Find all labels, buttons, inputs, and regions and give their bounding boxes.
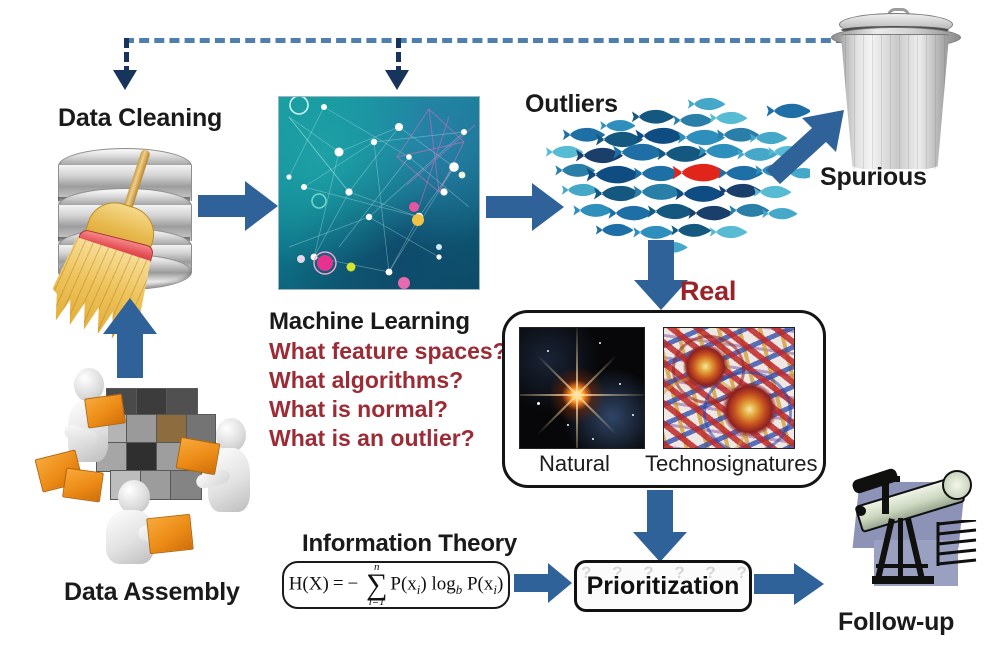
entropy-formula-box: H(X)=− n ∑ i=1 P(xi) logb P(xi): [282, 561, 510, 609]
network-graph-image: [278, 96, 480, 290]
arrow-formula-to-prioritization: [514, 561, 574, 605]
diagram-canvas: Data Cleaning: [0, 0, 993, 647]
orange-box-front-carried: [146, 514, 194, 554]
formula-term-2: P(x: [467, 573, 493, 594]
spurious-label: Spurious: [820, 163, 927, 192]
prioritization-label: Prioritization: [587, 572, 740, 601]
data-cleaning-label: Data Cleaning: [58, 104, 222, 133]
feedback-arrow-head-left: [113, 70, 137, 90]
data-assembly-label: Data Assembly: [64, 578, 240, 607]
natural-caption: Natural: [539, 451, 610, 477]
follow-up-label: Follow-up: [838, 608, 954, 637]
ml-question-1: What algorithms?: [269, 366, 507, 395]
arrow-cleaning-to-ml: [198, 178, 280, 234]
formula-term-2-close: ): [497, 573, 503, 594]
feedback-dashed-line: [124, 38, 846, 43]
technosignatures-caption: Technosignatures: [645, 451, 817, 477]
orange-box-right-carried: [176, 437, 221, 475]
formula-log-base: b: [456, 582, 462, 597]
formula-sum-lower: i=1: [369, 597, 385, 608]
feedback-arrow-head-right: [385, 70, 409, 90]
formula-summation: n ∑ i=1: [366, 562, 387, 608]
formula-log: log: [431, 573, 455, 594]
machine-learning-questions: What feature spaces? What algorithms? Wh…: [269, 337, 507, 453]
formula-term-1: P(x: [390, 573, 416, 594]
information-theory-label: Information Theory: [302, 530, 517, 558]
formula-sum-symbol: ∑: [366, 573, 387, 597]
telescope-icon: [826, 452, 986, 604]
formula-minus: −: [348, 573, 359, 594]
natural-star-photo: [519, 327, 645, 449]
assembly-figure-right: [196, 418, 258, 530]
ml-question-0: What feature spaces?: [269, 337, 507, 366]
ml-question-2: What is normal?: [269, 395, 507, 424]
formula-term-1-close: ): [420, 573, 426, 594]
orange-box-left-carried: [84, 394, 126, 429]
technosignature-photo: [663, 327, 795, 449]
arrow-real-to-prioritization: [629, 490, 691, 564]
formula-lhs: H(X): [289, 573, 329, 594]
orange-box-ground-2: [62, 468, 104, 503]
machine-learning-label: Machine Learning: [269, 308, 470, 336]
arrow-prioritization-to-followup: [754, 560, 826, 608]
real-label: Real: [680, 276, 736, 307]
trash-can-icon: [828, 8, 962, 168]
formula-equals: =: [329, 573, 348, 594]
ml-question-3: What is an outlier?: [269, 424, 507, 453]
prioritization-box[interactable]: ? ? ? ? ? ? ? ? ? ? ? ? ? ? ? ? ? ? Prio…: [574, 560, 752, 612]
real-candidates-box: Natural Technosignatures: [502, 310, 826, 488]
